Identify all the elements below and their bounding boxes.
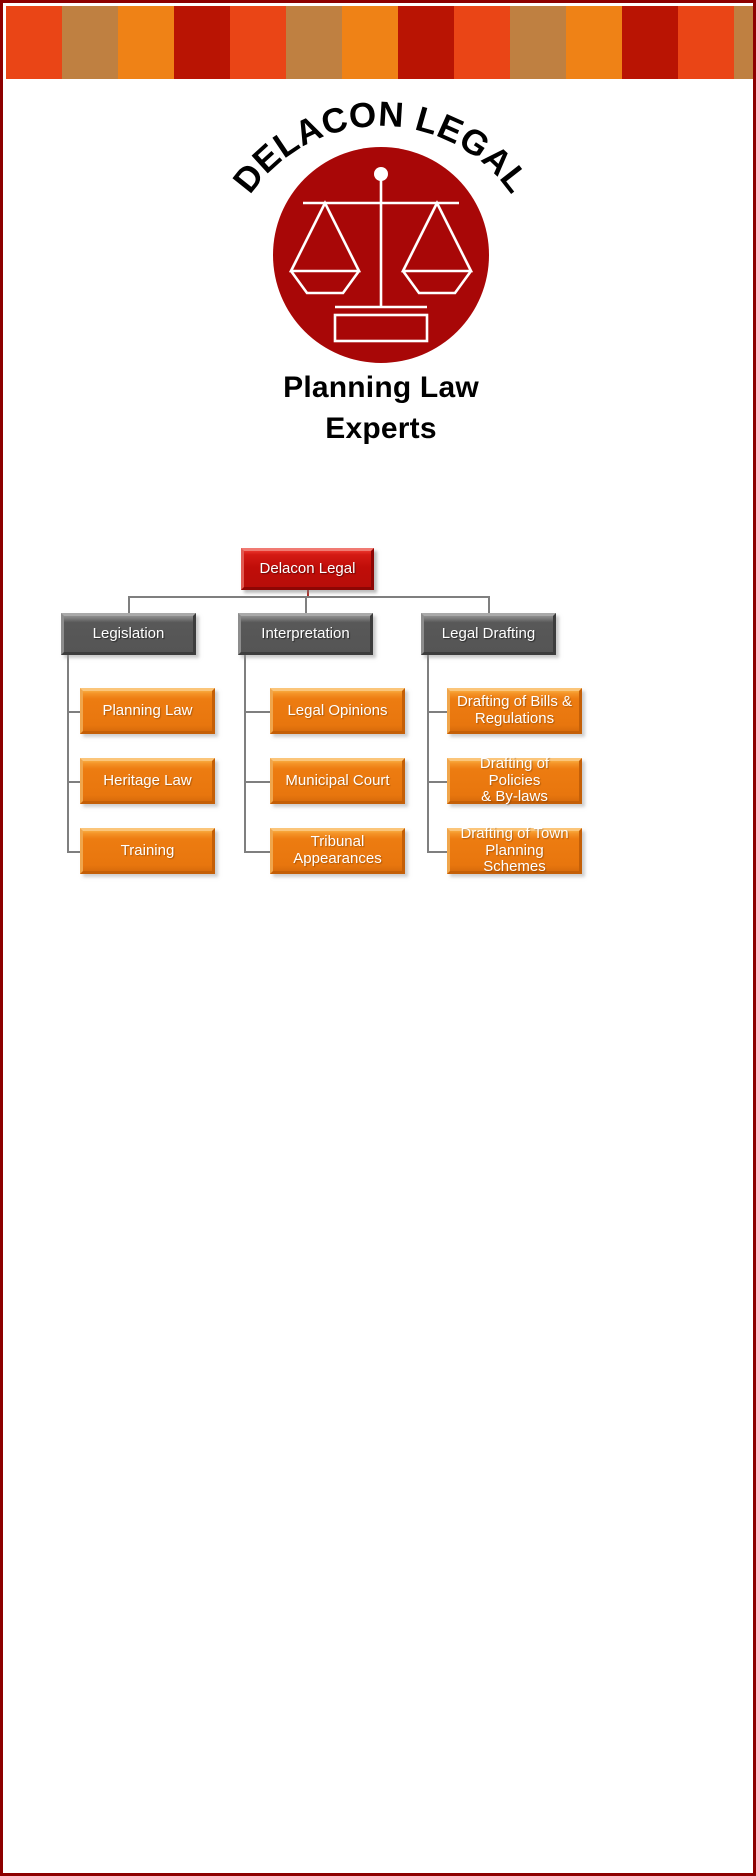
connector-leaf-elbow — [244, 711, 270, 713]
banner-stripe — [174, 6, 230, 79]
banner-stripe — [286, 6, 342, 79]
logo-block: DELACON LEGAL — [3, 81, 756, 461]
connector-branch-drop — [488, 596, 490, 613]
banner-stripe — [734, 6, 756, 79]
tagline-line-1: Planning Law — [3, 368, 756, 409]
org-node-branch-1[interactable]: Legislation — [61, 613, 196, 655]
banner-stripe — [6, 6, 62, 79]
banner-stripe — [566, 6, 622, 79]
connector-leaf-elbow — [427, 851, 447, 853]
connector-leaf-spine — [427, 655, 429, 851]
tagline: Planning Law Experts — [3, 368, 756, 449]
poster-page: DELACON LEGAL — [0, 0, 756, 1876]
banner-stripe — [62, 6, 118, 79]
banner-stripe — [118, 6, 174, 79]
connector-branch-drop — [305, 596, 307, 613]
connector-branch-drop — [128, 596, 130, 613]
banner-stripe — [342, 6, 398, 79]
org-node-leaf-1-3[interactable]: Training — [80, 828, 215, 874]
banner-stripe — [454, 6, 510, 79]
org-node-leaf-3-1[interactable]: Drafting of Bills & Regulations — [447, 688, 582, 734]
connector-leaf-spine — [244, 655, 246, 851]
org-node-leaf-1-2[interactable]: Heritage Law — [80, 758, 215, 804]
banner-stripe — [678, 6, 734, 79]
banner-stripe — [622, 6, 678, 79]
connector-leaf-elbow — [427, 711, 447, 713]
org-chart: Delacon LegalLegislationPlanning LawHeri… — [3, 533, 756, 933]
banner-stripe — [510, 6, 566, 79]
banner-stripe — [398, 6, 454, 79]
org-node-leaf-2-1[interactable]: Legal Opinions — [270, 688, 405, 734]
connector-leaf-elbow — [244, 781, 270, 783]
org-node-leaf-3-3[interactable]: Drafting of Town Planning Schemes — [447, 828, 582, 874]
tagline-line-2: Experts — [3, 409, 756, 450]
org-node-leaf-3-2[interactable]: Drafting of Policies & By-laws — [447, 758, 582, 804]
connector-leaf-elbow — [67, 781, 80, 783]
connector-leaf-elbow — [67, 851, 80, 853]
seal-circle — [273, 147, 489, 363]
org-node-leaf-2-3[interactable]: Tribunal Appearances — [270, 828, 405, 874]
org-node-leaf-2-2[interactable]: Municipal Court — [270, 758, 405, 804]
connector-leaf-elbow — [244, 851, 270, 853]
org-node-root[interactable]: Delacon Legal — [241, 548, 374, 590]
banner-stripe — [230, 6, 286, 79]
striped-banner — [6, 6, 756, 79]
org-node-branch-3[interactable]: Legal Drafting — [421, 613, 556, 655]
org-node-branch-2[interactable]: Interpretation — [238, 613, 373, 655]
connector-leaf-spine — [67, 655, 69, 851]
scales-of-justice-icon — [273, 147, 489, 363]
connector-branch-bus — [129, 596, 489, 598]
connector-leaf-elbow — [427, 781, 447, 783]
org-node-leaf-1-1[interactable]: Planning Law — [80, 688, 215, 734]
logo-mark: DELACON LEGAL — [211, 81, 551, 371]
connector-leaf-elbow — [67, 711, 80, 713]
